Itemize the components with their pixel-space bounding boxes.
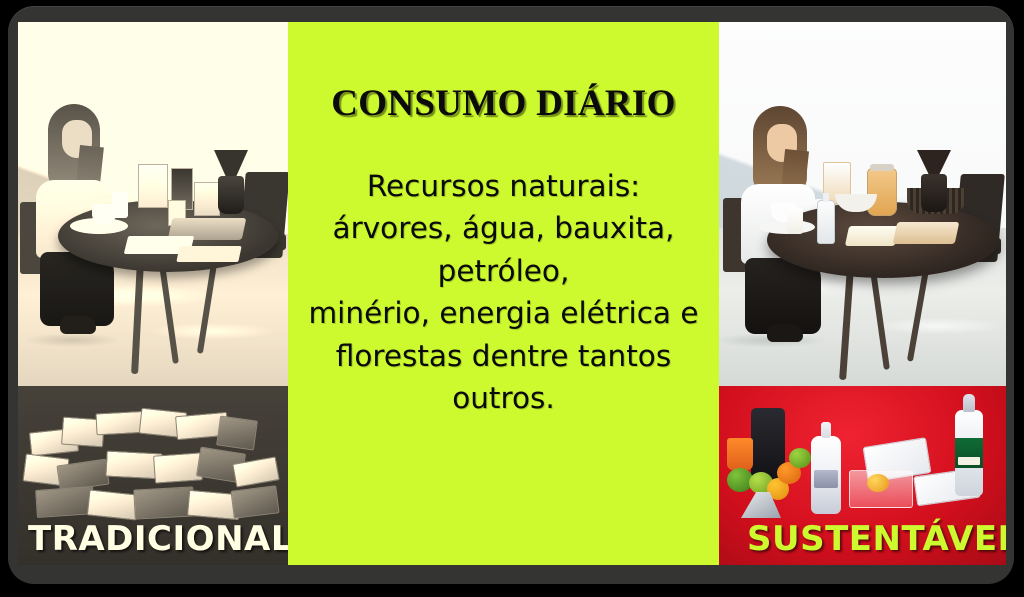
bottle-neck — [823, 193, 829, 202]
glass-jar-juice — [867, 168, 897, 216]
slide-body-text: Recursos naturais: árvores, água, bauxit… — [308, 165, 698, 420]
panel-traditional: TRADICIONAL — [18, 22, 288, 565]
traditional-photo-stack: TRADICIONAL — [18, 22, 288, 565]
orange-cup — [727, 438, 753, 470]
caption-sustainable: SUSTENTÁVEL — [747, 519, 1006, 559]
shoe — [60, 316, 96, 334]
shoe — [767, 324, 803, 342]
cheese-slices — [845, 226, 899, 246]
fruit-lime — [789, 448, 811, 468]
packaging-waste-pile — [18, 396, 288, 532]
photo-woman-fresh-breakfast-color — [719, 22, 1006, 386]
panel-sustainable: SUSTENTÁVEL — [719, 22, 1006, 565]
coffee-pot — [921, 174, 947, 212]
milk-bottle — [817, 200, 835, 244]
slide-title: CONSUMO DIÁRIO — [331, 82, 675, 125]
slide-frame: TRADICIONAL CONSUMO DIÁRIO Recursos natu… — [0, 0, 1024, 597]
coffee-filter-cone — [214, 150, 248, 176]
slide-content: TRADICIONAL CONSUMO DIÁRIO Recursos natu… — [18, 22, 1006, 565]
coffee-maker — [214, 150, 248, 216]
coffee-pot — [218, 176, 244, 214]
disposable-tray — [176, 246, 241, 262]
sustainable-photo-stack: SUSTENTÁVEL — [719, 22, 1006, 565]
coffee-filter-cone — [917, 150, 951, 174]
returnable-milk-bottle — [811, 436, 841, 514]
panel-text: CONSUMO DIÁRIO Recursos naturais: árvore… — [288, 22, 719, 565]
bread-tray — [893, 222, 960, 244]
milk-bottle-green-label — [955, 410, 983, 496]
coffee-maker — [917, 150, 951, 214]
glass — [112, 192, 128, 218]
jar-lid — [870, 164, 894, 171]
caption-traditional: TRADICIONAL — [28, 519, 288, 559]
photo-packaging-waste-sepia: TRADICIONAL — [18, 386, 288, 565]
milk-glass — [787, 208, 803, 234]
text-block: CONSUMO DIÁRIO Recursos naturais: árvore… — [288, 22, 719, 565]
bottle-label — [955, 438, 983, 468]
cereal-box — [138, 164, 168, 208]
photo-reusable-containers-red: SUSTENTÁVEL — [719, 386, 1006, 565]
egg — [867, 474, 889, 492]
photo-woman-packaged-breakfast-sepia — [18, 22, 288, 386]
